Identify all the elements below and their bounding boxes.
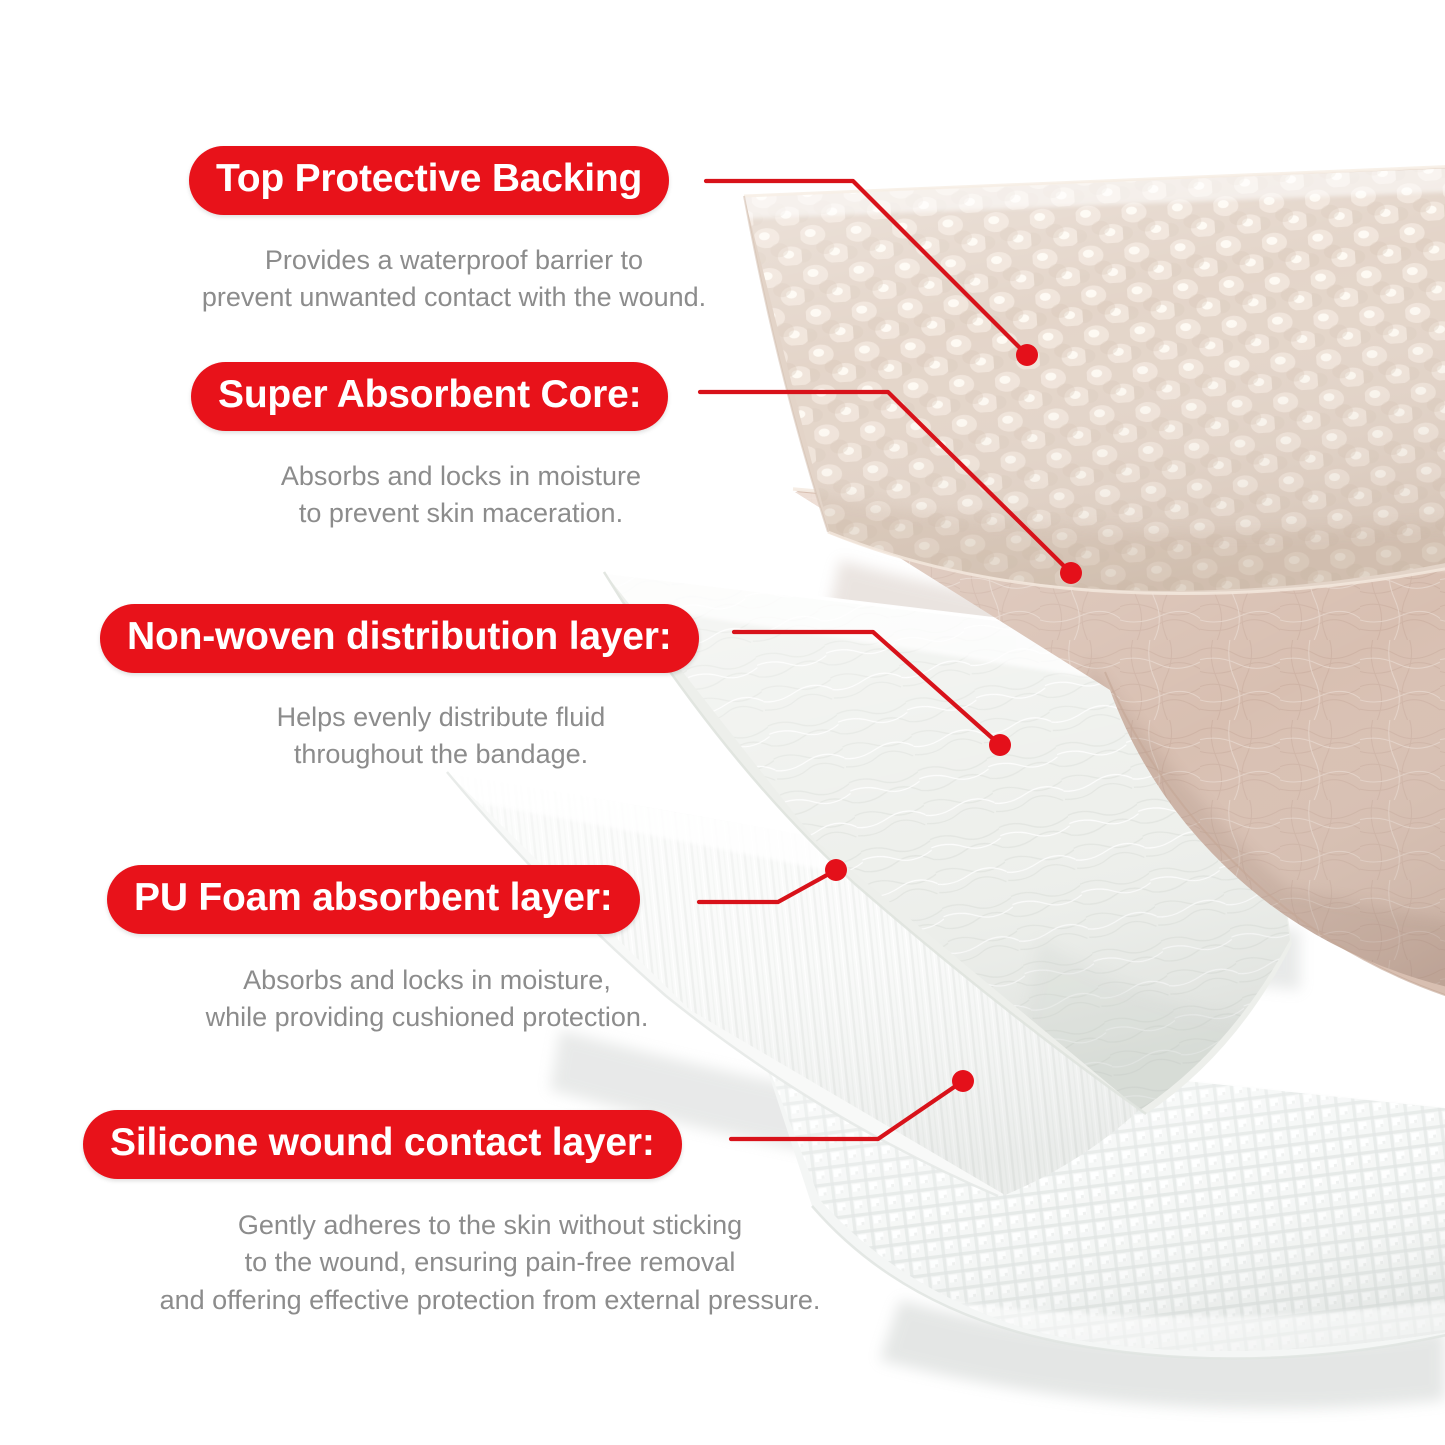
leader-dot-top-backing bbox=[1016, 344, 1038, 366]
infographic-canvas: Top Protective Backing Provides a waterp… bbox=[0, 0, 1445, 1445]
leader-dot-nonwoven bbox=[989, 734, 1011, 756]
callout-description-super-absorbent-core: Absorbs and locks in moisture to prevent… bbox=[191, 458, 731, 531]
leader-dot-pu-foam bbox=[825, 859, 847, 881]
callout-description-silicone-wound-contact-layer: Gently adheres to the skin without stick… bbox=[90, 1207, 890, 1319]
leader-dot-silicone bbox=[952, 1070, 974, 1092]
callout-silicone-wound-contact-layer: Silicone wound contact layer: Gently adh… bbox=[83, 1110, 890, 1319]
callout-top-protective-backing: Top Protective Backing Provides a waterp… bbox=[189, 146, 759, 315]
callout-description-top-protective-backing: Provides a waterproof barrier to prevent… bbox=[149, 242, 759, 315]
layer-top-protective-backing bbox=[710, 120, 1445, 620]
leader-line-absorbent-core bbox=[700, 392, 1071, 573]
callout-description-non-woven-distribution-layer: Helps evenly distribute fluid throughout… bbox=[91, 699, 791, 772]
callout-super-absorbent-core: Super Absorbent Core: Absorbs and locks … bbox=[191, 362, 731, 531]
callout-pu-foam-absorbent-layer: PU Foam absorbent layer: Absorbs and loc… bbox=[107, 865, 757, 1035]
leader-dot-absorbent-core bbox=[1060, 562, 1082, 584]
callout-label-pu-foam-absorbent-layer[interactable]: PU Foam absorbent layer: bbox=[107, 865, 640, 934]
callout-label-super-absorbent-core[interactable]: Super Absorbent Core: bbox=[191, 362, 668, 431]
callout-description-pu-foam-absorbent-layer: Absorbs and locks in moisture, while pro… bbox=[97, 962, 757, 1035]
callout-label-top-protective-backing[interactable]: Top Protective Backing bbox=[189, 146, 669, 215]
layer-super-absorbent-core bbox=[760, 460, 1445, 1040]
callout-label-silicone-wound-contact-layer[interactable]: Silicone wound contact layer: bbox=[83, 1110, 682, 1179]
callout-non-woven-distribution-layer: Non-woven distribution layer: Helps even… bbox=[100, 604, 791, 772]
callout-label-non-woven-distribution-layer[interactable]: Non-woven distribution layer: bbox=[100, 604, 699, 673]
